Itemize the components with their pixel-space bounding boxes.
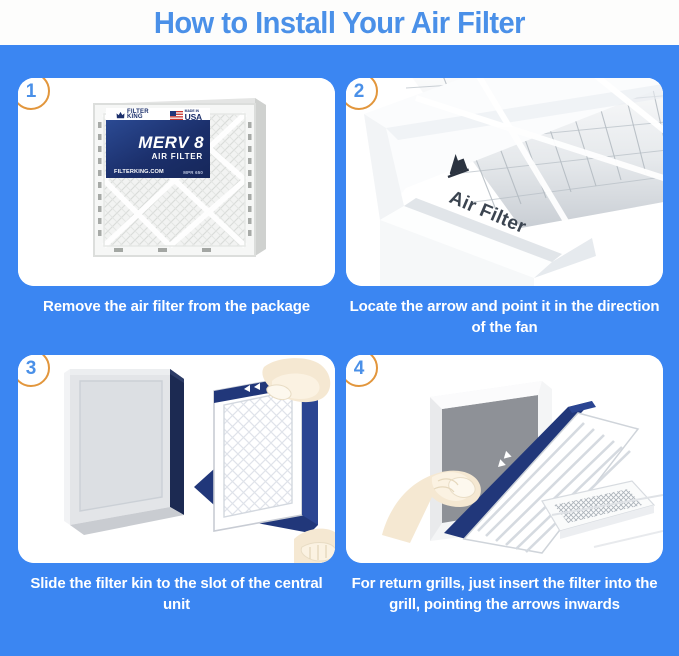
filter-king-logo: FILTER KING	[116, 110, 149, 121]
step-caption-3: Slide the filter kin to the slot of the …	[18, 574, 335, 615]
step-2-artwork: Air Filter	[346, 78, 663, 286]
steps-grid: FILTER KING MADE I	[0, 45, 679, 656]
step-caption-4: For return grills, just insert the filte…	[346, 574, 663, 615]
step-3-card-surface: 3	[18, 355, 335, 563]
made-in-usa-badge: MADE IN USA	[170, 110, 202, 121]
infographic-page: How to Install Your Air Filter	[0, 0, 679, 656]
step-caption-2: Locate the arrow and point it in the dir…	[346, 297, 663, 338]
step-card-4: 4 For return grills, just insert the fil…	[346, 355, 663, 615]
step-3-artwork	[18, 355, 335, 563]
air-filter-subtitle: AIR FILTER	[106, 153, 203, 161]
header-band: How to Install Your Air Filter	[0, 0, 679, 45]
usa-text: USA	[185, 113, 202, 121]
step-1-card-surface: FILTER KING MADE I	[18, 78, 335, 286]
mpr-rating-text: MPR 650	[183, 170, 203, 175]
merv-rating-text: MERV 8	[106, 134, 204, 151]
step-4-artwork	[346, 355, 663, 563]
step-caption-1: Remove the air filter from the package	[18, 297, 335, 318]
product-label-text: FILTER KING MADE I	[106, 108, 210, 178]
central-unit-slot	[64, 369, 184, 535]
step-1-artwork: FILTER KING MADE I	[18, 78, 335, 286]
usa-flag-icon	[170, 111, 183, 120]
step-4-card-surface: 4	[346, 355, 663, 563]
crown-icon	[116, 111, 125, 120]
step-card-1: FILTER KING MADE I	[18, 78, 335, 318]
website-text: FILTERKING.COM	[114, 169, 164, 175]
page-title: How to Install Your Air Filter	[154, 7, 525, 38]
step-card-2: Air Filter 2 Locate the arrow and point …	[346, 78, 663, 338]
hand-top	[262, 358, 330, 402]
step-card-3: 3 Slide the filter kin to the slot of th…	[18, 355, 335, 615]
brand-line-2: KING	[127, 115, 149, 121]
step-2-card-surface: Air Filter 2	[346, 78, 663, 286]
